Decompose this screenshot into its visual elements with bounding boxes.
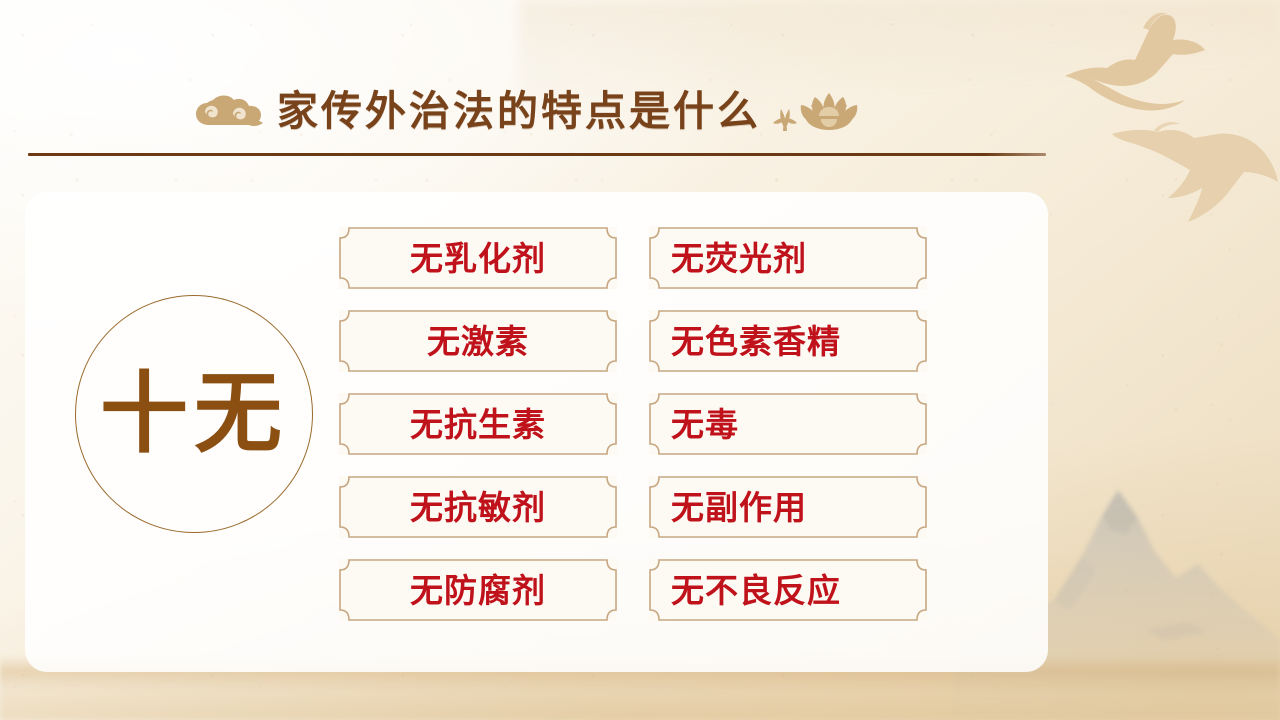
title-divider-rule (28, 153, 1046, 156)
lotus-flower-icon (771, 89, 867, 133)
feature-tag[interactable]: 无防腐剂 (339, 559, 617, 621)
ten-free-circle-badge: 十无 (75, 295, 313, 533)
feature-tag[interactable]: 无激素 (339, 310, 617, 372)
feature-tag[interactable]: 无毒 (649, 393, 927, 455)
flying-crane-icon (1063, 8, 1228, 123)
feature-tag[interactable]: 无抗生素 (339, 393, 617, 455)
feature-tag-label: 无乳化剂 (355, 242, 601, 275)
feature-tag-label: 无激素 (355, 325, 601, 358)
title-row: 家传外治法的特点是什么 (0, 78, 1060, 144)
feature-tag[interactable]: 无不良反应 (649, 559, 927, 621)
flying-crane-icon (1108, 108, 1280, 230)
feature-tag[interactable]: 无抗敏剂 (339, 476, 617, 538)
feature-tag-label: 无副作用 (665, 491, 911, 524)
page-title: 家传外治法的特点是什么 (277, 91, 761, 132)
feature-tag-label: 无抗生素 (355, 408, 601, 441)
feature-tag-label: 无抗敏剂 (355, 491, 601, 524)
feature-tag-label: 无毒 (665, 408, 911, 441)
feature-tag-grid: 无乳化剂 无荧光剂 无激素 无色素香精 无抗生素 (339, 227, 927, 621)
feature-tag[interactable]: 无副作用 (649, 476, 927, 538)
feature-tag-label: 无防腐剂 (355, 574, 601, 607)
auspicious-cloud-icon (193, 90, 267, 132)
slide-canvas: 家传外治法的特点是什么 (0, 0, 1280, 720)
feature-tag[interactable]: 无色素香精 (649, 310, 927, 372)
feature-tag[interactable]: 无乳化剂 (339, 227, 617, 289)
sand-band-texture-lower (0, 690, 1280, 720)
feature-tag-label: 无荧光剂 (665, 242, 911, 275)
feature-tag[interactable]: 无荧光剂 (649, 227, 927, 289)
badge-label: 十无 (100, 370, 288, 458)
feature-tag-label: 无不良反应 (665, 574, 911, 607)
feature-tag-label: 无色素香精 (665, 325, 911, 358)
